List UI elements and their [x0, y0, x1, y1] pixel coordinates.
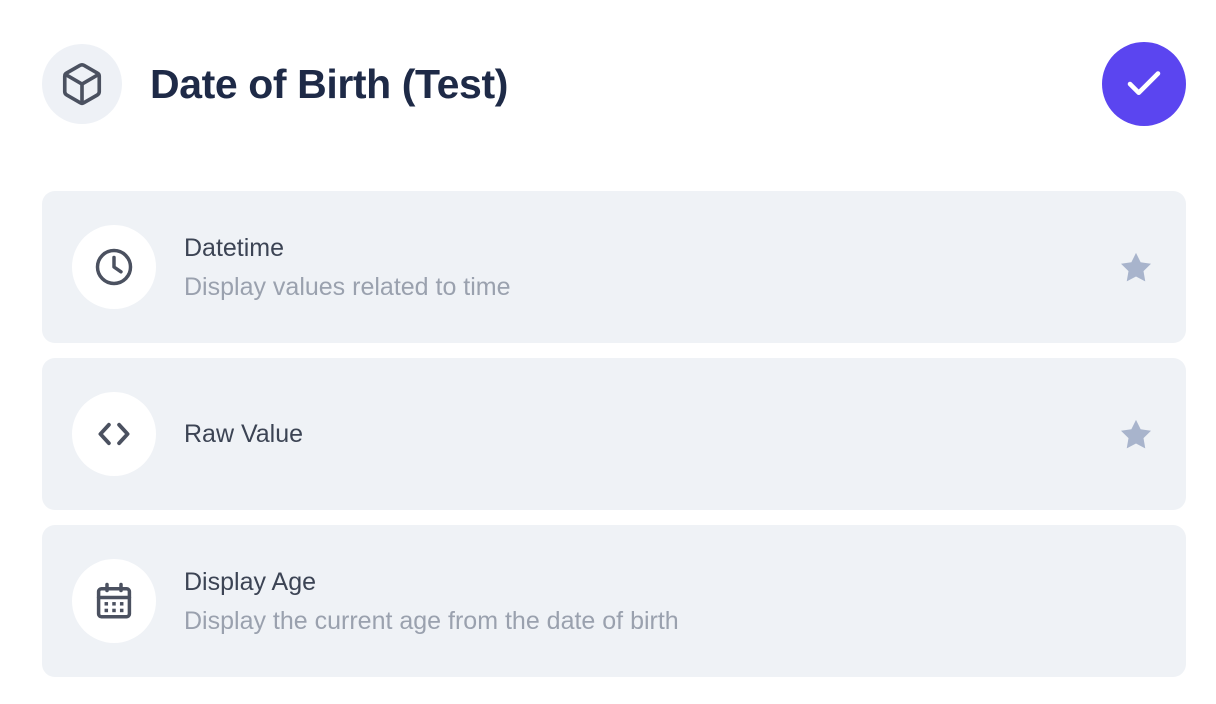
code-brackets-icon — [72, 392, 156, 476]
list-item-title: Datetime — [184, 232, 511, 264]
list-item[interactable]: Raw Value — [42, 358, 1186, 510]
option-list: Datetime Display values related to time … — [42, 191, 1186, 677]
list-item[interactable]: Display Age Display the current age from… — [42, 525, 1186, 677]
star-slot-empty — [1116, 581, 1156, 621]
page-root: Date of Birth (Test) Datetime Display va… — [0, 0, 1216, 704]
list-item-text: Datetime Display values related to time — [184, 232, 511, 303]
star-filled-icon[interactable] — [1116, 247, 1156, 287]
page-header: Date of Birth (Test) — [42, 40, 1186, 128]
page-title: Date of Birth (Test) — [150, 64, 508, 105]
check-icon — [1123, 63, 1165, 105]
list-item-subtitle: Display values related to time — [184, 271, 511, 303]
list-item[interactable]: Datetime Display values related to time — [42, 191, 1186, 343]
calendar-icon — [72, 559, 156, 643]
star-filled-icon[interactable] — [1116, 414, 1156, 454]
confirm-button[interactable] — [1102, 42, 1186, 126]
list-item-title: Raw Value — [184, 418, 303, 450]
list-item-subtitle: Display the current age from the date of… — [184, 605, 679, 637]
clock-icon — [72, 225, 156, 309]
cube-icon — [42, 44, 122, 124]
list-item-text: Display Age Display the current age from… — [184, 566, 679, 637]
list-item-title: Display Age — [184, 566, 679, 598]
list-item-text: Raw Value — [184, 418, 303, 450]
